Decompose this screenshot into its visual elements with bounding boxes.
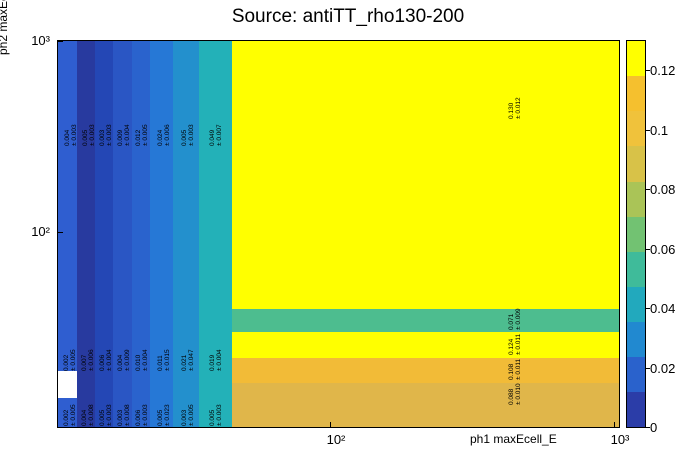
cell-label: 0.009 ± 0.004 bbox=[117, 124, 132, 146]
cell-label: 0.002 ± 0.005 bbox=[63, 404, 78, 426]
heatmap-plot: 0.004 ± 0.003 0.005 ± 0.003 0.003 ± 0.00… bbox=[57, 40, 620, 428]
chart-root: Source: antiTT_rho130-200 ph2 maxEcell_E… bbox=[0, 0, 696, 472]
cell-label: 0.005 ± 0.003 bbox=[99, 404, 114, 426]
cbar-seg-9 bbox=[627, 111, 645, 146]
cbar-label-002: 0.02 bbox=[650, 361, 675, 376]
cell-label: 0.088 ± 0.010 bbox=[508, 383, 523, 405]
x-axis-label: ph1 maxEcell_E bbox=[470, 432, 557, 446]
x-tick-100: 10² bbox=[316, 432, 356, 447]
cell-label: 0.010 ± 0.004 bbox=[135, 349, 150, 371]
cbar-seg-6 bbox=[627, 217, 645, 252]
cell-label: 0.071 ± 0.009 bbox=[508, 308, 523, 330]
cell-label: 0.019 ± 0.004 bbox=[209, 349, 224, 371]
empty-bin bbox=[58, 371, 77, 398]
cbar-seg-1 bbox=[627, 392, 645, 427]
y-tick-1000: 10³ bbox=[6, 33, 50, 48]
cell-label: 0.005 ± 0.023 bbox=[157, 404, 172, 426]
cbar-seg-5 bbox=[627, 252, 645, 287]
cell-label: 0.004 ± 0.009 bbox=[117, 349, 132, 371]
cell-label: 0.007 ± 0.006 bbox=[81, 349, 96, 371]
cell-label: 0.130 ± 0.012 bbox=[508, 97, 523, 119]
cbar-seg-4 bbox=[627, 287, 645, 322]
cbar-seg-10 bbox=[627, 76, 645, 111]
cell-label: 0.005 ± 0.003 bbox=[82, 124, 97, 146]
cbar-label-012: 0.12 bbox=[650, 63, 675, 78]
cbar-label-01: 0.1 bbox=[650, 123, 668, 138]
cell-label: 0.108 ± 0.011 bbox=[508, 359, 523, 380]
cell-label: 0.005 ± 0.003 bbox=[181, 124, 196, 146]
cbar-label-0: 0 bbox=[650, 420, 657, 435]
cell-row-teal bbox=[232, 309, 619, 332]
chart-title: Source: antiTT_rho130-200 bbox=[0, 6, 696, 28]
cell-label: 0.006 ± 0.003 bbox=[135, 404, 150, 426]
cbar-seg-7 bbox=[627, 182, 645, 217]
cell-label: 0.005 ± 0.003 bbox=[209, 404, 224, 426]
cell-label: 0.124 ± 0.011 bbox=[508, 334, 523, 355]
cell-row-yellow-2 bbox=[232, 332, 619, 358]
cell-label: 0.004 ± 0.003 bbox=[64, 124, 79, 146]
cell-row-orange-1 bbox=[232, 358, 619, 383]
cell-label: 0.021 ± 0.047 bbox=[181, 349, 196, 371]
cbar-label-006: 0.06 bbox=[650, 242, 675, 257]
cbar-label-004: 0.04 bbox=[650, 301, 675, 316]
cbar-seg-2 bbox=[627, 357, 645, 392]
cell-label: 0.011 ± 0.015 bbox=[157, 349, 172, 371]
y-tick-100: 10² bbox=[6, 224, 50, 239]
cell-label: 0.004 ± 0.008 bbox=[81, 404, 96, 426]
cell-label: 0.012 ± 0.005 bbox=[135, 124, 150, 146]
x-tick-1000: 10³ bbox=[600, 432, 640, 447]
cbar-label-008: 0.08 bbox=[650, 182, 675, 197]
cell-label: 0.002 ± 0.005 bbox=[63, 349, 78, 371]
cell-row-orange-2 bbox=[232, 383, 619, 427]
cell-label: 0.024 ± 0.006 bbox=[157, 124, 172, 146]
cell-label: 0.003 ± 0.008 bbox=[117, 404, 132, 426]
cbar-seg-11 bbox=[627, 41, 645, 76]
cell-label: 0.006 ± 0.004 bbox=[99, 349, 114, 371]
cell-label: 0.003 ± 0.005 bbox=[181, 404, 196, 426]
color-bar bbox=[626, 40, 646, 428]
cell-label: 0.049 ± 0.007 bbox=[209, 124, 224, 146]
cbar-seg-8 bbox=[627, 146, 645, 181]
cell-label: 0.003 ± 0.003 bbox=[99, 124, 114, 146]
cbar-seg-3 bbox=[627, 322, 645, 357]
